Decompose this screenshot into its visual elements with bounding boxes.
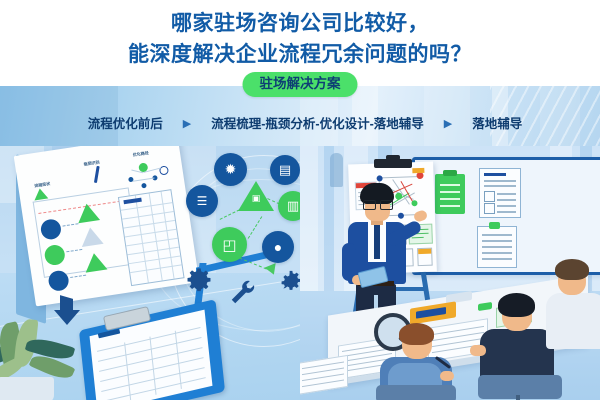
flipchart-clamp <box>374 159 412 168</box>
board-marker-triangle <box>33 187 48 200</box>
graph-label <box>412 168 424 173</box>
document-icon <box>417 248 433 267</box>
whiteboard-panel: 流程现状 瓶颈识别 优化路径 <box>14 145 200 306</box>
solution-badge[interactable]: 驻场解决方案 <box>243 72 358 97</box>
solution-badge-label: 驻场解决方案 <box>260 76 341 91</box>
note-clamp <box>489 222 500 229</box>
graph-node <box>377 175 383 181</box>
chevron-right-icon: ▶ <box>428 116 468 132</box>
flow-triangle <box>79 226 103 247</box>
user-icon: ● <box>262 231 294 263</box>
document-icon: ☰ <box>186 185 218 217</box>
board-label-right: 优化路径 <box>132 150 149 158</box>
attendee-hair <box>555 259 589 280</box>
attendee-hand <box>440 371 454 381</box>
glasses-icon <box>363 200 392 208</box>
process-optimization-board: 流程现状 瓶颈识别 优化路径 <box>12 145 190 328</box>
icon-cluster: ✹ ▤ ☰ ▣ ▥ ◰ ● <box>186 153 316 283</box>
breadcrumb-item-3[interactable]: 落地辅导 <box>468 116 526 132</box>
background-figure <box>330 153 343 187</box>
board-node <box>141 183 147 189</box>
board-data-table <box>118 189 185 286</box>
attendee-back <box>546 259 600 349</box>
potted-plant <box>0 317 102 400</box>
document-sheet <box>477 226 517 268</box>
breadcrumb: 流程优化前后 ▶ 流程梳理-瓶颈分析-优化设计-落地辅导 ▶ 落地辅导 <box>0 108 600 140</box>
flow-icon-node <box>43 244 66 267</box>
title-line-2: 能深度解决企业流程冗余问题的吗？ <box>0 39 600 70</box>
breadcrumb-item-2[interactable]: 流程梳理-瓶颈分析-优化设计-落地辅导 <box>207 116 428 132</box>
breadcrumb-item-1[interactable]: 流程优化前后 <box>84 116 167 132</box>
page-root: 哪家驻场咨询公司比较好， 能深度解决企业流程冗余问题的吗？ 驻场解决方案 流程优… <box>0 0 600 400</box>
layout-icon: ▤ <box>270 155 300 185</box>
wrench-icon <box>228 277 258 307</box>
box-icon: ◰ <box>212 227 247 262</box>
plant-pot <box>0 377 54 400</box>
pen-stroke <box>94 166 100 183</box>
attendee-hand <box>470 345 486 356</box>
attendee-hair <box>399 323 434 345</box>
chair <box>376 385 456 400</box>
chair <box>478 375 562 399</box>
flow-icon-node <box>40 218 63 241</box>
note-clamp <box>443 170 457 176</box>
attendee-hair <box>498 293 535 317</box>
document-sheet <box>479 168 521 218</box>
flow-triangle <box>83 252 107 273</box>
right-illustration-panel <box>300 145 600 400</box>
wall-whiteboard <box>412 157 600 275</box>
green-clipboard-note <box>435 174 465 214</box>
factory-icon: ▣ <box>238 181 274 211</box>
attendee-front <box>378 323 458 400</box>
flow-triangle <box>76 202 100 223</box>
gear-icon <box>182 267 216 301</box>
chevron-right-icon: ▶ <box>167 116 207 132</box>
checklist-clipboard <box>82 315 222 400</box>
title-line-1: 哪家驻场咨询公司比较好， <box>171 12 429 35</box>
illustration: 流程现状 瓶颈识别 优化路径 <box>0 145 600 400</box>
page-title: 哪家驻场咨询公司比较好， 能深度解决企业流程冗余问题的吗？ <box>0 8 600 70</box>
